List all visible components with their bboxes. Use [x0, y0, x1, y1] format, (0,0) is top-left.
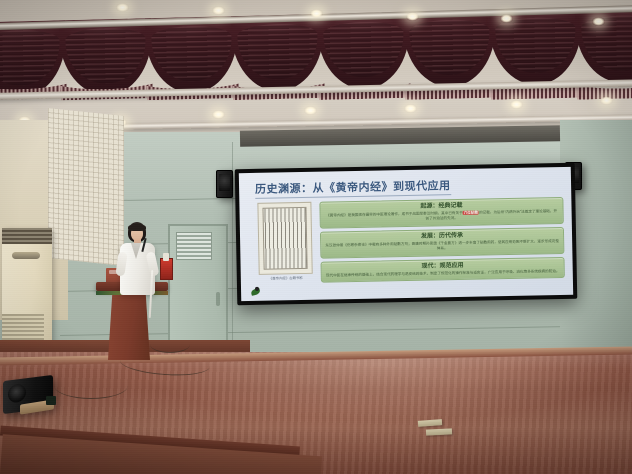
ac-display-panel — [12, 252, 40, 259]
screen-surface: 历史渊源：从《黄帝内经》到现代应用 《黄帝内经》古籍书影 起源：经典记载 《黄帝… — [239, 167, 573, 301]
book-caption: 《黄帝内经》古籍书影 — [255, 276, 317, 282]
ceiling-downlight — [500, 14, 513, 23]
leaf-logo-icon — [251, 287, 262, 296]
floor-cable — [150, 336, 190, 353]
projection-screen: 历史渊源：从《黄帝内经》到现代应用 《黄帝内经》古籍书影 起源：经典记载 《黄帝… — [235, 163, 578, 306]
ceiling-downlight — [404, 104, 417, 113]
presenter-in-white-coat — [116, 222, 160, 296]
ancient-book-image — [257, 202, 312, 275]
ceiling-downlight — [212, 6, 225, 15]
ceiling-downlight — [304, 106, 317, 115]
wall-tile-grid — [48, 108, 124, 266]
slide-content-boxes: 起源：经典记载 《黄帝内经》是我国现存最早的中医理论著作，成书于战国至秦汉时期，… — [319, 197, 565, 286]
ceiling-downlight — [406, 12, 419, 21]
lecture-hall-photo: 历史渊源：从《黄帝内经》到现代应用 《黄帝内经》古籍书影 起源：经典记载 《黄帝… — [0, 0, 632, 474]
ceiling-downlight — [510, 100, 523, 109]
side-door[interactable] — [168, 224, 228, 348]
slide-box-origin: 起源：经典记载 《黄帝内经》是我国现存最早的中医理论著作，成书于战国至秦汉时期，… — [319, 197, 563, 229]
slide-box-highlight: 穴位贴敷 — [463, 210, 479, 214]
podium-body — [108, 295, 150, 360]
ac-top-grill — [2, 228, 52, 244]
door-handle[interactable] — [216, 292, 220, 306]
ceiling-downlight — [600, 96, 613, 105]
ceiling-downlight — [592, 17, 605, 26]
ceiling-downlight — [310, 9, 323, 18]
slide-title: 历史渊源：从《黄帝内经》到现代应用 — [255, 177, 451, 197]
wall-speaker-left — [216, 170, 233, 198]
door-vent — [176, 232, 212, 260]
presenter-fringe — [128, 224, 146, 231]
book-page-texture — [262, 207, 307, 270]
floor-cable — [54, 372, 128, 399]
cable-connector — [46, 396, 56, 405]
slide-box-development: 发展：历代传承 东汉张仲景《伤寒杂病论》中载有多种外用贴敷方剂；晋唐时期孙思邈《… — [320, 227, 564, 259]
ceiling-downlight — [116, 3, 129, 12]
ceiling-downlight — [212, 110, 225, 119]
slide-box-modern: 现代：规范应用 现代中医在继承传统的基础上，结合现代药理学与透皮给药技术，制定了… — [321, 257, 565, 283]
